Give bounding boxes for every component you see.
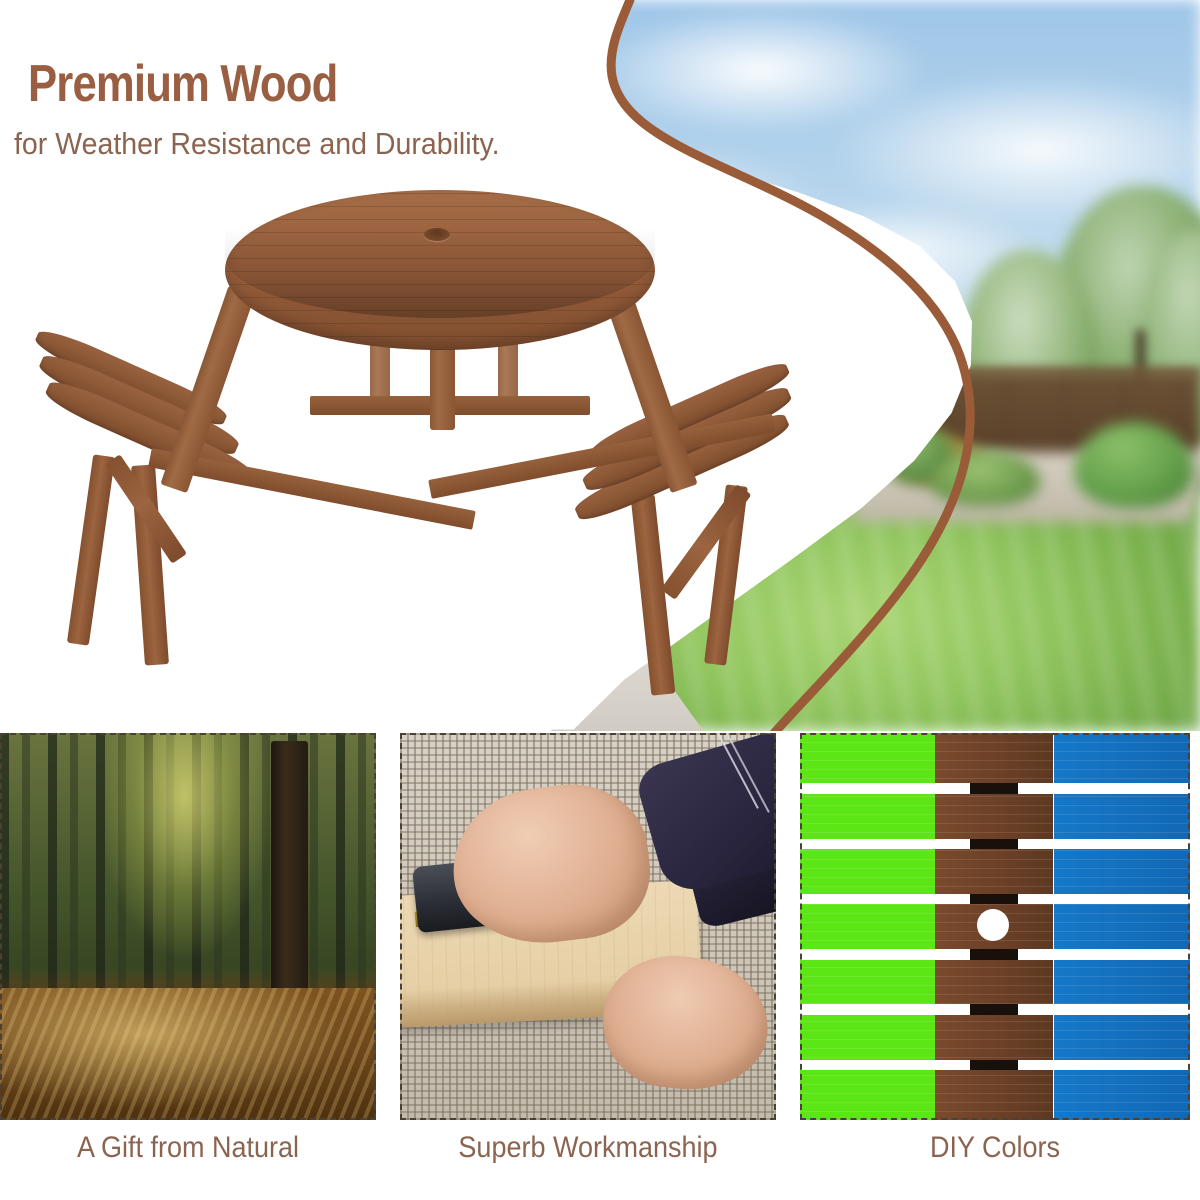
page-title: Premium Wood	[28, 54, 337, 114]
diy-tabletop-image	[800, 733, 1190, 1120]
umbrella-hole	[977, 909, 1009, 941]
feature-panels: A Gift from Natural Superb Workmanship D…	[0, 733, 1200, 1200]
panel-caption-diy: DIY Colors	[820, 1131, 1171, 1165]
bench-leg	[67, 454, 115, 645]
picnic-table-product-photo	[0, 150, 880, 710]
bench-right	[545, 365, 865, 695]
product-marketing-poster: Premium Wood for Weather Resistance and …	[0, 0, 1200, 1200]
slat-gap-shadow	[970, 894, 1019, 904]
panel-forest	[0, 733, 376, 1120]
panel-workmanship	[400, 733, 776, 1120]
slat-gap-shadow	[970, 839, 1019, 849]
bench-left	[20, 335, 310, 665]
umbrella-hole	[424, 228, 450, 241]
panel-diy	[800, 733, 1190, 1120]
slat-gap-shadow	[970, 949, 1019, 959]
panel-caption-workmanship: Superb Workmanship	[419, 1131, 757, 1165]
forest-floor	[0, 988, 376, 1120]
page-subtitle: for Weather Resistance and Durability.	[14, 126, 500, 162]
forest-light	[105, 733, 270, 957]
slat-gap-shadow	[970, 783, 1019, 793]
slat-gap-shadow	[970, 1004, 1019, 1014]
hero-section: Premium Wood for Weather Resistance and …	[0, 0, 1200, 731]
panel-caption-forest: A Gift from Natural	[19, 1131, 357, 1165]
slat-gap-shadow	[970, 1060, 1019, 1070]
